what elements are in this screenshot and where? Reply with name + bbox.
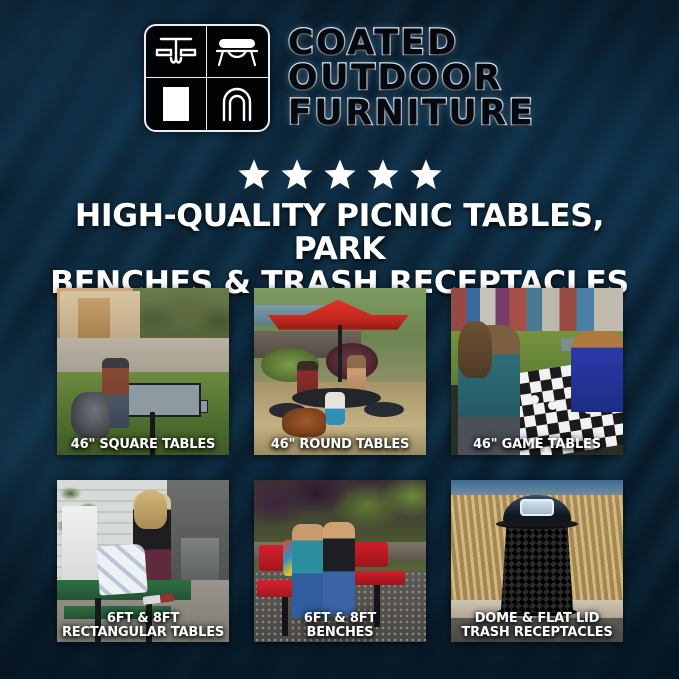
product-caption: 6FT & 8FT RECTANGULAR TABLES (57, 612, 229, 639)
caption-line-2: BENCHES (257, 626, 423, 639)
product-tile-square-tables[interactable]: 46" SQUARE TABLES (57, 288, 229, 455)
brand-name-line-1: COATED (288, 26, 535, 60)
product-tile-trash-receptacles[interactable]: DOME & FLAT LID TRASH RECEPTACLES (451, 480, 623, 642)
star-icon (323, 158, 357, 191)
product-caption: 46" GAME TABLES (451, 438, 623, 451)
caption-line-2: RECTANGULAR TABLES (60, 626, 226, 639)
ad-banner: COATED OUTDOOR FURNITURE HIGH-QUALITY PI… (0, 0, 679, 679)
star-icon (366, 158, 400, 191)
product-grid: 46" SQUARE TABLES 46" ROUND TABLES (57, 288, 623, 642)
flat-lid-trash-icon (146, 78, 207, 130)
star-icon (409, 158, 443, 191)
brand-name-line-2: OUTDOOR (288, 61, 535, 95)
caption-line-2: TRASH RECEPTACLES (454, 626, 620, 639)
product-tile-rectangular-tables[interactable]: 6FT & 8FT RECTANGULAR TABLES (57, 480, 229, 642)
star-icon (237, 158, 271, 191)
page-title: HIGH-QUALITY PICNIC TABLES, PARK BENCHES… (30, 200, 649, 300)
product-caption: 46" SQUARE TABLES (57, 438, 229, 451)
brand-name-line-3: FURNITURE (288, 96, 535, 130)
caption-line-1: 6FT & 8FT (60, 612, 226, 625)
product-tile-benches[interactable]: 6FT & 8FT BENCHES (254, 480, 426, 642)
caption-line-1: 46" GAME TABLES (454, 438, 620, 451)
square-table-photo (57, 288, 229, 455)
round-table-photo (254, 288, 426, 455)
picnic-table-icon (146, 26, 207, 78)
star-rating (0, 158, 679, 191)
product-tile-game-tables[interactable]: 46" GAME TABLES (451, 288, 623, 455)
game-table-photo (451, 288, 623, 455)
brand-logo[interactable]: COATED OUTDOOR FURNITURE (0, 24, 679, 132)
headline-line-1: HIGH-QUALITY PICNIC TABLES, PARK (75, 198, 604, 267)
logo-icon-grid (144, 24, 270, 132)
caption-line-1: 46" ROUND TABLES (257, 438, 423, 451)
product-caption: DOME & FLAT LID TRASH RECEPTACLES (451, 612, 623, 639)
brand-wordmark: COATED OUTDOOR FURNITURE (288, 26, 535, 131)
star-icon (280, 158, 314, 191)
caption-line-1: 6FT & 8FT (257, 612, 423, 625)
caption-line-1: DOME & FLAT LID (454, 612, 620, 625)
product-tile-round-tables[interactable]: 46" ROUND TABLES (254, 288, 426, 455)
product-caption: 46" ROUND TABLES (254, 438, 426, 451)
caption-line-1: 46" SQUARE TABLES (60, 438, 226, 451)
dome-lid-trash-icon (207, 78, 268, 130)
park-bench-icon (207, 26, 268, 78)
product-caption: 6FT & 8FT BENCHES (254, 612, 426, 639)
